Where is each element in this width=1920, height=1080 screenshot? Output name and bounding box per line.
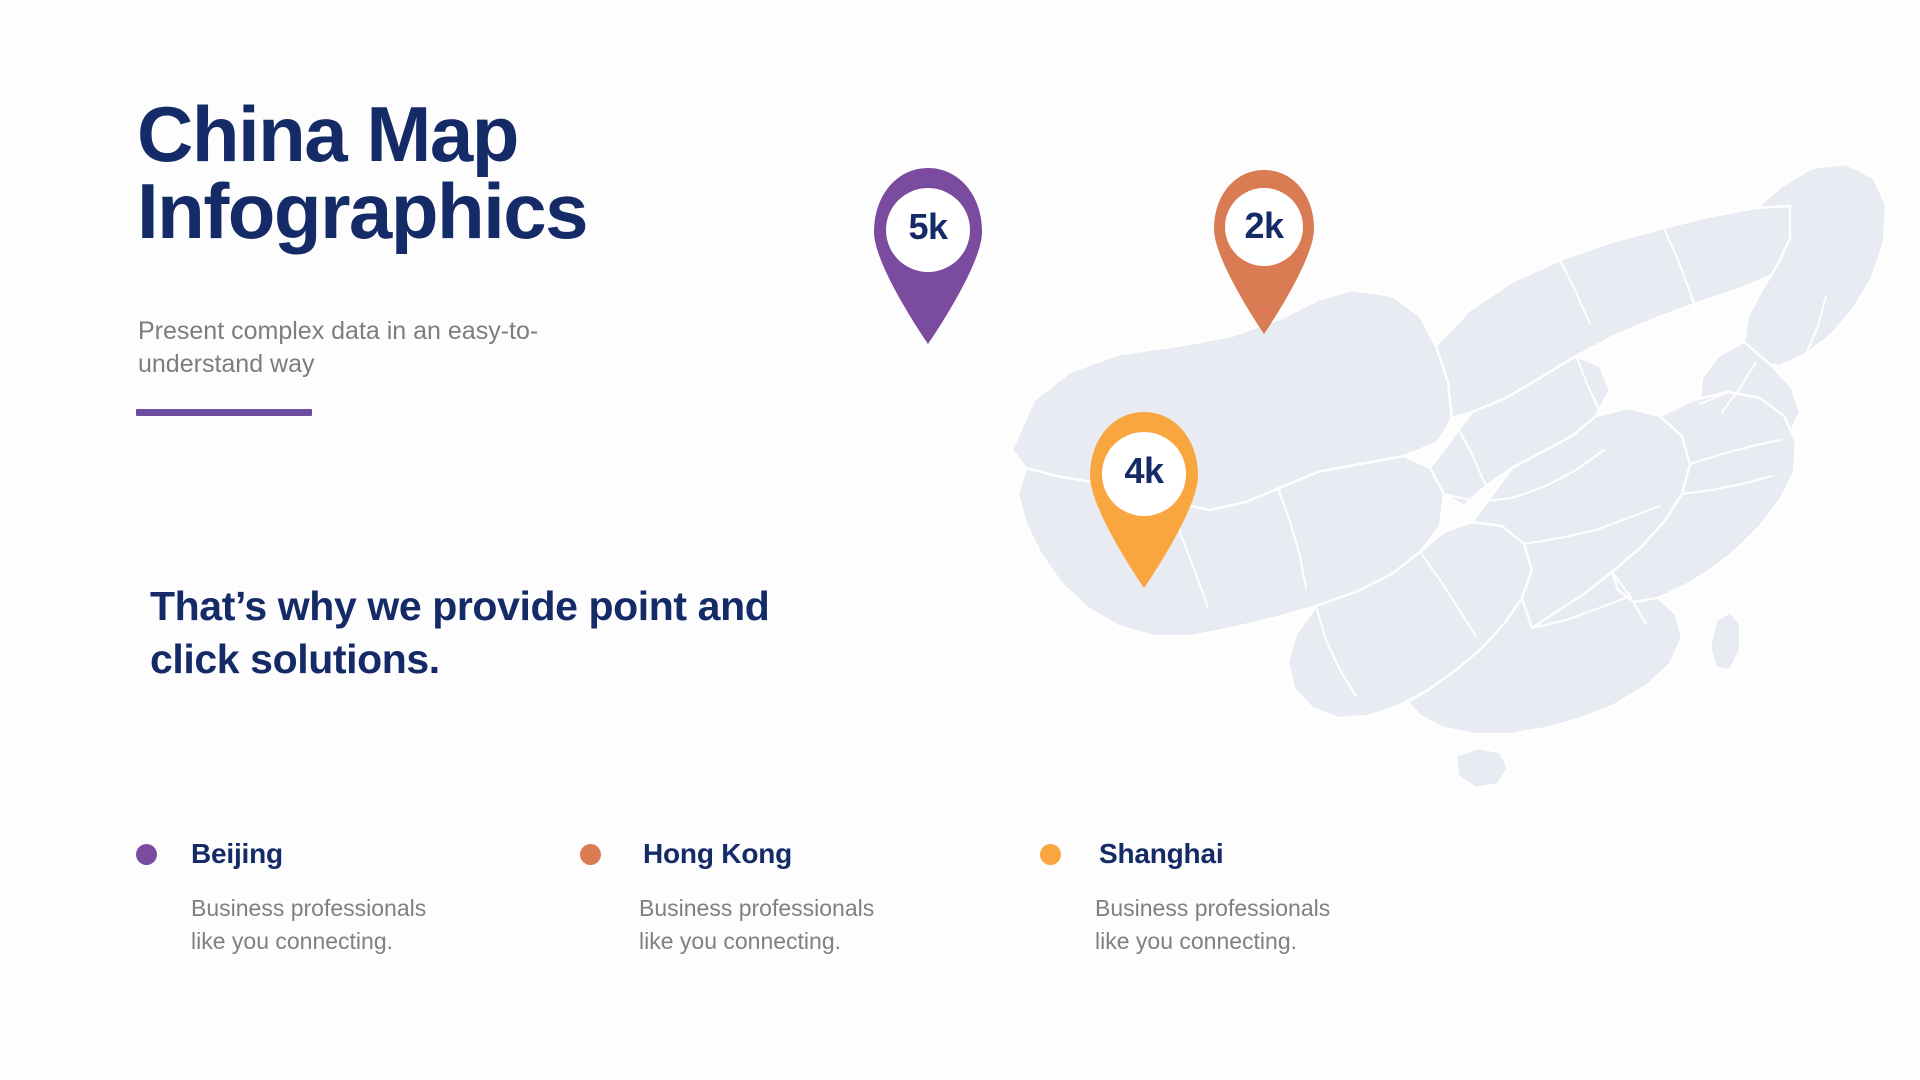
china-map: 5k 2k 4k <box>1000 150 1900 810</box>
headline-text: That’s why we provide point and click so… <box>150 580 790 687</box>
legend-item-beijing[interactable]: Beijing Business professionals like you … <box>136 838 426 957</box>
legend-label-hong-kong: Hong Kong <box>643 838 792 870</box>
map-pin-icon <box>858 162 998 347</box>
legend-label-beijing: Beijing <box>191 838 283 870</box>
page-title: China Map Infographics <box>137 96 757 250</box>
legend-label-shanghai: Shanghai <box>1099 838 1223 870</box>
map-pin-hong-kong[interactable]: 2k <box>1200 165 1328 337</box>
legend-dot-icon <box>1040 844 1061 865</box>
legend-dot-icon <box>580 844 601 865</box>
map-pin-icon <box>1200 165 1328 337</box>
map-pin-icon <box>1074 406 1214 591</box>
legend-dot-icon <box>136 844 157 865</box>
legend-description-shanghai: Business professionals like you connecti… <box>1095 892 1330 957</box>
map-pin-value-beijing: 5k <box>858 206 998 248</box>
legend-item-hong-kong[interactable]: Hong Kong Business professionals like yo… <box>580 838 874 957</box>
legend-item-shanghai[interactable]: Shanghai Business professionals like you… <box>1040 838 1330 957</box>
map-pin-beijing[interactable]: 5k <box>858 162 998 347</box>
map-pin-value-hong-kong: 2k <box>1200 205 1328 247</box>
title-divider <box>136 409 312 416</box>
map-pin-value-shanghai: 4k <box>1074 450 1214 492</box>
legend-description-hong-kong: Business professionals like you connecti… <box>639 892 874 957</box>
map-pin-shanghai[interactable]: 4k <box>1074 406 1214 591</box>
legend-description-beijing: Business professionals like you connecti… <box>191 892 426 957</box>
infographic-slide: 5k 2k 4k China Map Infographics Present … <box>0 0 1920 1080</box>
page-subtitle: Present complex data in an easy-to-under… <box>138 315 618 381</box>
legend: Beijing Business professionals like you … <box>0 838 1500 988</box>
